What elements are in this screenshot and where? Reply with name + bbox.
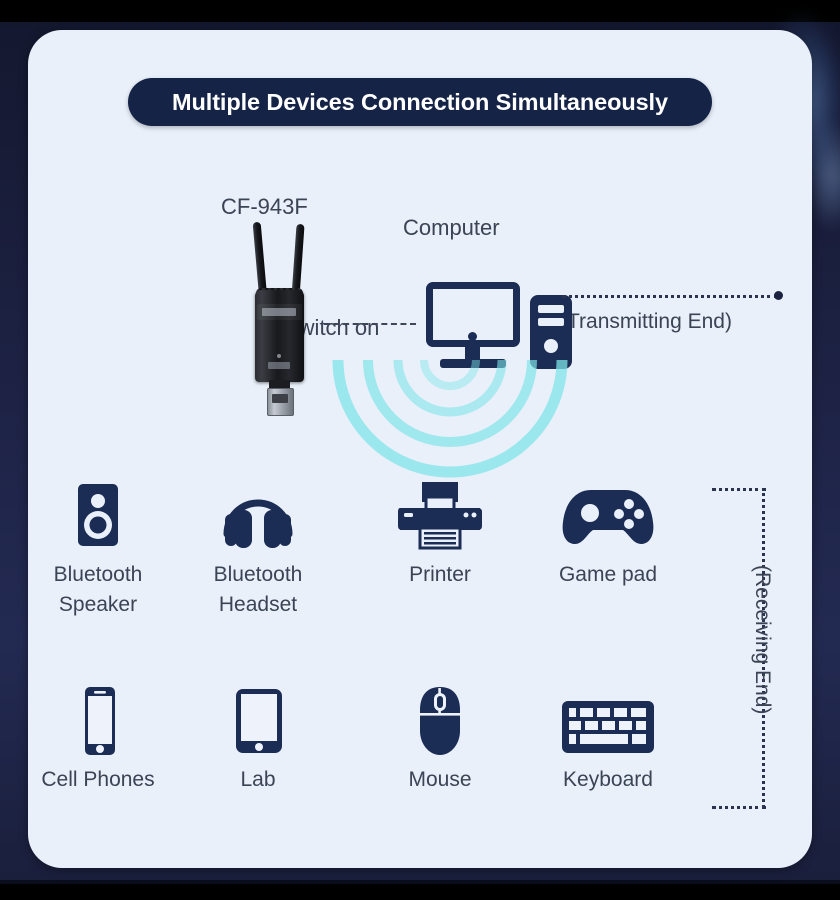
usb-connector-icon [267,388,294,416]
keyboard-icon [533,685,683,757]
bluetooth-speaker-icon [28,480,173,552]
device-mouse: Mouse [365,685,515,795]
switch-on-dashed-connector [324,323,416,325]
adapter-logo-mark [268,362,290,369]
computer-label: Computer [403,215,500,241]
tablet-icon [183,685,333,757]
product-model-label: CF-943F [221,194,308,220]
bottom-letterbox-bar [0,884,840,900]
device-bluetooth-headset: Bluetooth Headset [183,480,333,620]
product-info-card: Multiple Devices Connection Simultaneous… [28,30,812,868]
tower-power-button-icon [544,339,558,353]
bluetooth-headset-icon [183,480,333,552]
bracket-bottom-segment [712,806,766,809]
infographic-canvas: Multiple Devices Connection Simultaneous… [0,0,840,900]
page-title: Multiple Devices Connection Simultaneous… [172,89,668,116]
device-printer: Printer [365,480,515,590]
cell-phone-icon [28,685,173,757]
wifi-signal-waves-icon [300,360,600,490]
monitor-stand-base [440,359,506,368]
device-label: Bluetooth Headset [183,560,333,620]
printer-icon [365,480,515,552]
device-keyboard: Keyboard [533,685,683,795]
device-label: Lab [183,765,333,795]
receiving-end-label: (Receiving End) [750,565,774,714]
device-cell-phones: Cell Phones [28,685,173,795]
adapter-brand-mark [262,308,296,316]
bracket-top-segment [712,488,766,491]
device-bluetooth-speaker: Bluetooth Speaker [28,480,173,620]
usb-wifi-adapter-icon [240,220,320,400]
game-pad-icon [533,480,683,552]
title-banner: Multiple Devices Connection Simultaneous… [128,78,712,126]
mouse-icon [365,685,515,757]
device-label: Bluetooth Speaker [28,560,173,620]
device-label: Game pad [533,560,683,590]
pc-tower-icon [530,295,572,369]
device-label: Printer [365,560,515,590]
transmitting-end-dotted-line [562,295,778,298]
transmitting-end-point-dot [774,291,783,300]
device-tablet-lab: Lab [183,685,333,795]
transmitting-end-label: (Transmitting End) [560,310,732,334]
device-game-pad: Game pad [533,480,683,590]
tower-drive-slot-2 [538,318,564,326]
top-letterbox-bar [0,0,840,24]
device-label: Mouse [365,765,515,795]
tower-drive-slot-1 [538,305,564,313]
adapter-led-icon [277,354,281,358]
device-label: Keyboard [533,765,683,795]
device-label: Cell Phones [28,765,173,795]
monitor-indicator-dot [468,332,477,341]
